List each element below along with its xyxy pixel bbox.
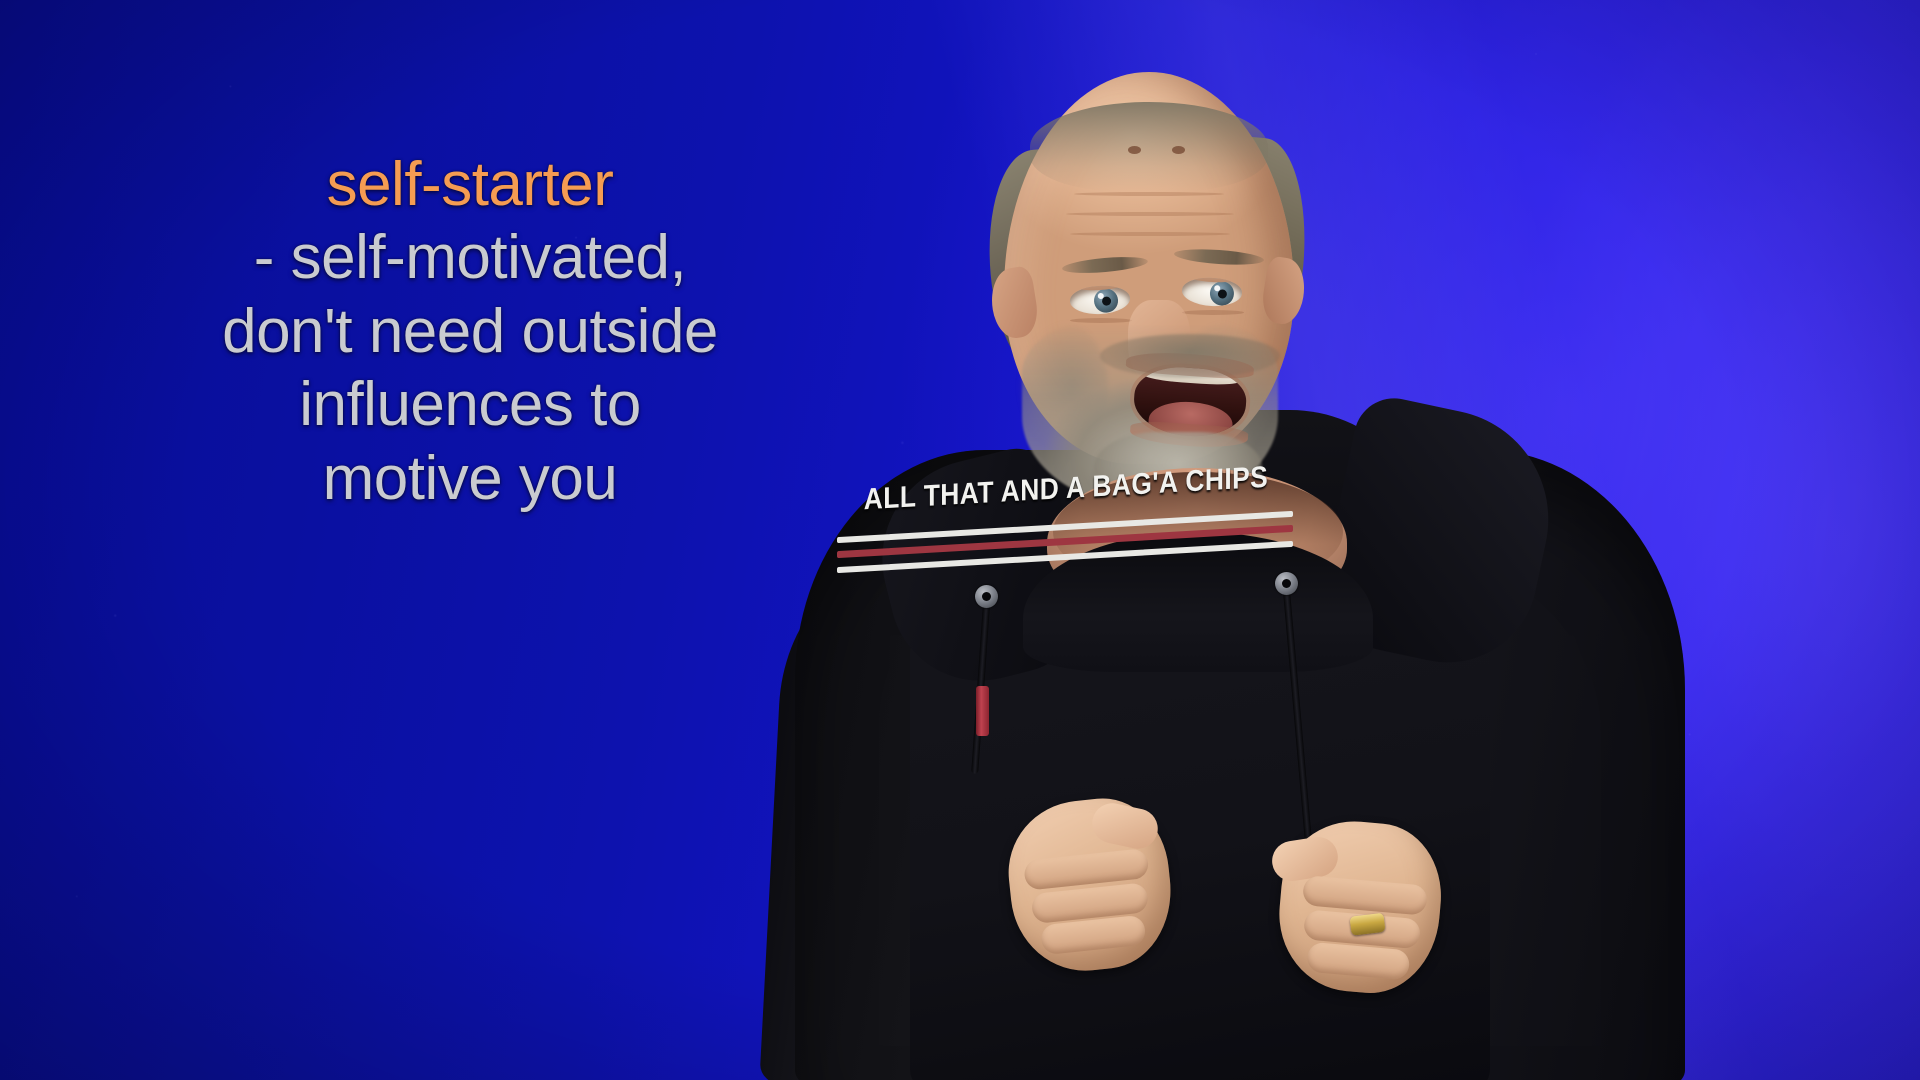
caption-line-3: influences to [0,368,940,441]
forehead-crease [1070,232,1230,236]
caption-overlay: self-starter - self-motivated, don't nee… [0,148,940,515]
iris-right [1209,281,1234,306]
forehead-crease [1074,192,1224,196]
hair-top [1030,102,1268,192]
forehead-crease [1066,212,1234,216]
pupil-right [1218,289,1227,298]
caption-term: self-starter [0,148,940,221]
chest-stripe-white-bottom [837,541,1293,573]
pupil-left [1102,296,1111,305]
under-eye-right [1182,310,1244,315]
drawstring-aglet [976,686,989,736]
nostril-left [1128,146,1141,154]
nostril-right [1172,146,1185,154]
caption-line-2: don't need outside [0,295,940,368]
caption-line-4: motive you [0,442,940,515]
finger-right-3 [1306,942,1410,981]
iris-left [1093,288,1118,313]
video-frame: ALL THAT AND A BAG'A CHIPS self-starter … [0,0,1920,1080]
caption-line-1: - self-motivated, [0,221,940,294]
head [978,72,1318,512]
under-eye-left [1070,318,1132,323]
mustache [1100,334,1280,378]
